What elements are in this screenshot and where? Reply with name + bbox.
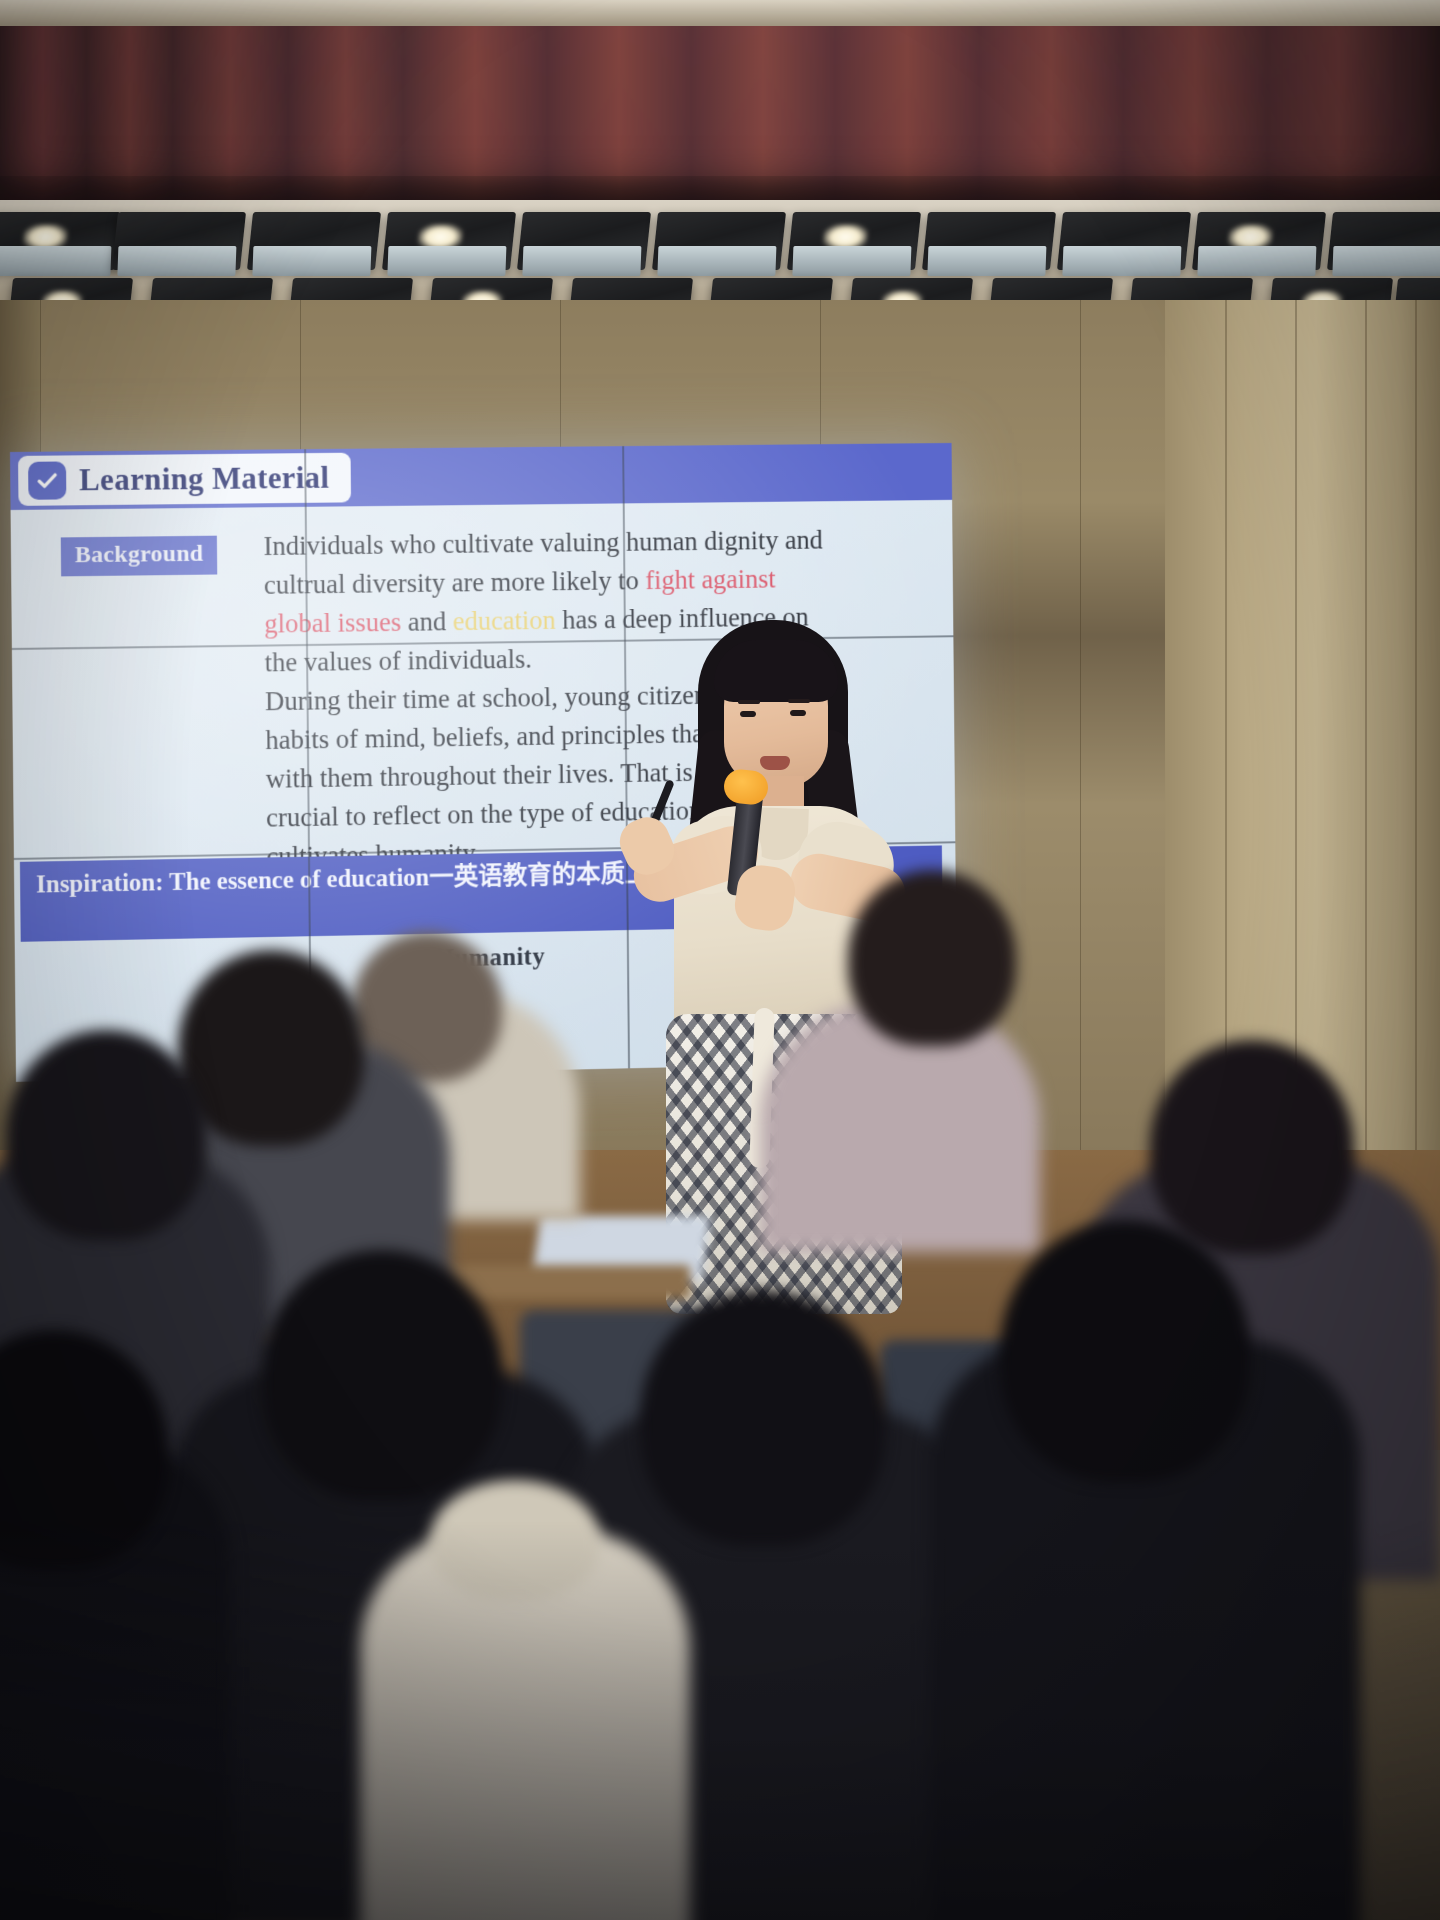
audience-head bbox=[1150, 1040, 1354, 1254]
ceiling-light-panel bbox=[517, 212, 651, 270]
slide-header-bar: Learning Material bbox=[10, 443, 952, 510]
eyebrow-left bbox=[738, 700, 760, 704]
ceiling-light-panel bbox=[0, 212, 121, 270]
audience-head bbox=[640, 1290, 886, 1546]
light-diffuser bbox=[523, 246, 642, 276]
mouth bbox=[760, 756, 790, 770]
light-diffuser bbox=[793, 246, 912, 276]
ceiling-light-panel bbox=[112, 212, 246, 270]
highlight-education: education bbox=[453, 605, 556, 636]
audience-head bbox=[262, 1250, 502, 1500]
check-circle-icon bbox=[28, 461, 66, 499]
audience bbox=[0, 1010, 1440, 1920]
ceiling-light-panel bbox=[652, 212, 786, 270]
highlight-global-issues: global issues bbox=[264, 607, 401, 639]
ceiling-light-panel bbox=[247, 212, 381, 270]
audience-head bbox=[430, 1480, 600, 1600]
ceiling-light-panel bbox=[787, 212, 921, 270]
background-badge: Background bbox=[61, 536, 218, 577]
paragraph-line-1: Individuals who cultivate valuing human … bbox=[263, 520, 906, 566]
light-diffuser bbox=[1063, 246, 1182, 276]
stage-curtain bbox=[0, 0, 1440, 205]
ceiling-light-panel bbox=[1327, 212, 1440, 270]
audience-head bbox=[178, 950, 364, 1146]
hair-fringe bbox=[714, 640, 838, 702]
lecture-hall-scene: Learning Material Background Individuals… bbox=[0, 0, 1440, 1920]
light-diffuser bbox=[388, 246, 507, 276]
slide-title: Learning Material bbox=[79, 460, 329, 498]
eyebrow-right bbox=[788, 699, 810, 703]
eye-left bbox=[740, 711, 756, 717]
desk-surface bbox=[440, 1265, 690, 1299]
inspiration-label: Inspiration: The essence of education bbox=[36, 864, 429, 898]
audience-head bbox=[6, 1030, 206, 1240]
light-diffuser bbox=[1198, 246, 1317, 276]
ceiling-light-panel bbox=[382, 212, 516, 270]
light-diffuser bbox=[253, 246, 372, 276]
slide-title-chip: Learning Material bbox=[18, 453, 351, 506]
light-diffuser bbox=[0, 246, 111, 276]
line3-mid: and bbox=[401, 606, 453, 636]
curtain-rail bbox=[0, 0, 1440, 26]
light-diffuser bbox=[1333, 246, 1440, 276]
highlight-fight-against: fight against bbox=[645, 564, 776, 595]
line2-text: cultrual diversity are more likely to bbox=[264, 565, 646, 599]
light-diffuser bbox=[928, 246, 1047, 276]
ceiling-light-panel bbox=[1057, 212, 1191, 270]
audience-head bbox=[848, 870, 1016, 1046]
light-diffuser bbox=[658, 246, 777, 276]
ceiling-light-panel bbox=[1192, 212, 1326, 270]
line1-text: Individuals who cultivate valuing human … bbox=[263, 525, 822, 561]
eye-right bbox=[790, 710, 806, 716]
light-diffuser bbox=[118, 246, 237, 276]
audience-head bbox=[1000, 1220, 1250, 1482]
ceiling-light-panel bbox=[922, 212, 1056, 270]
slide-badge-column: Background bbox=[11, 513, 263, 846]
